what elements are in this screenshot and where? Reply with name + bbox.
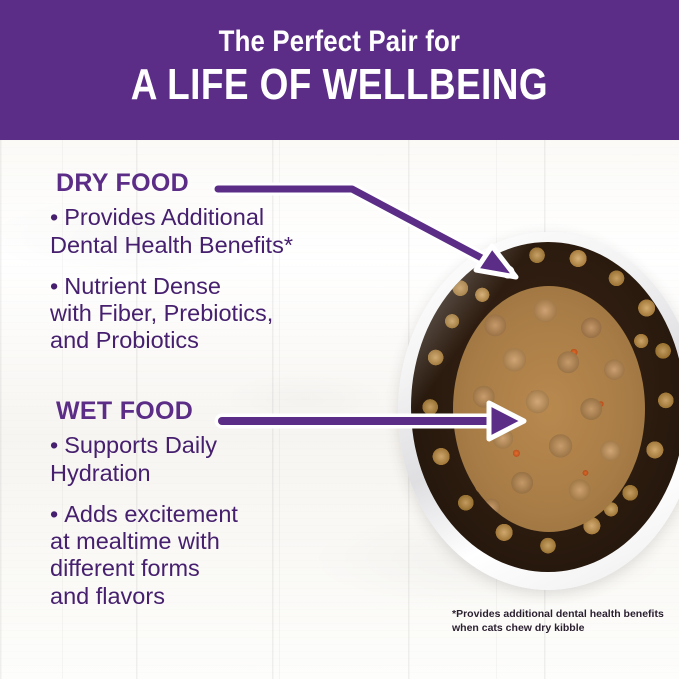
banner-title-line1: The Perfect Pair for — [219, 27, 460, 57]
list-item: •Nutrient Dense with Fiber, Prebiotics, … — [50, 273, 400, 355]
dry-food-heading: DRY FOOD — [56, 170, 400, 196]
list-item: •Supports Daily Hydration — [50, 432, 400, 487]
wet-food-section: WET FOOD •Supports Daily Hydration •Adds… — [50, 398, 400, 624]
bullet-dot-icon: • — [50, 501, 58, 528]
wet-food-gravy — [453, 286, 645, 532]
header-banner: The Perfect Pair for A LIFE OF WELLBEING — [0, 0, 679, 140]
wet-food-bullet-list: •Supports Daily Hydration •Adds exciteme… — [50, 432, 400, 610]
bullet-line: with Fiber, Prebiotics, — [50, 300, 273, 326]
bullet-line: Hydration — [50, 460, 151, 486]
bullet-line: and flavors — [50, 583, 165, 609]
wet-food-heading: WET FOOD — [56, 398, 400, 424]
bullet-line: Adds excitement — [64, 501, 238, 527]
bullet-line: Supports Daily — [64, 432, 217, 458]
bullet-line: different forms — [50, 555, 200, 581]
bullet-line: Provides Additional — [64, 204, 264, 230]
bullet-dot-icon: • — [50, 204, 58, 231]
list-item: •Provides Additional Dental Health Benef… — [50, 204, 400, 259]
bullet-line: and Probiotics — [50, 327, 199, 353]
banner-title-line2: A LIFE OF WELLBEING — [131, 63, 548, 107]
dry-food-bullet-list: •Provides Additional Dental Health Benef… — [50, 204, 400, 354]
footnote-text: *Provides additional dental health benef… — [452, 607, 667, 635]
dry-food-section: DRY FOOD •Provides Additional Dental Hea… — [50, 170, 400, 369]
bullet-dot-icon: • — [50, 273, 58, 300]
cat-food-bowl-photo — [398, 232, 679, 594]
bowl-interior — [411, 242, 679, 572]
list-item: •Adds excitement at mealtime with differ… — [50, 501, 400, 610]
bullet-line: Nutrient Dense — [64, 273, 221, 299]
bullet-dot-icon: • — [50, 432, 58, 459]
promo-graphic: The Perfect Pair for A LIFE OF WELLBEING… — [0, 0, 679, 679]
bullet-line: Dental Health Benefits* — [50, 232, 293, 258]
bullet-line: at mealtime with — [50, 528, 220, 554]
